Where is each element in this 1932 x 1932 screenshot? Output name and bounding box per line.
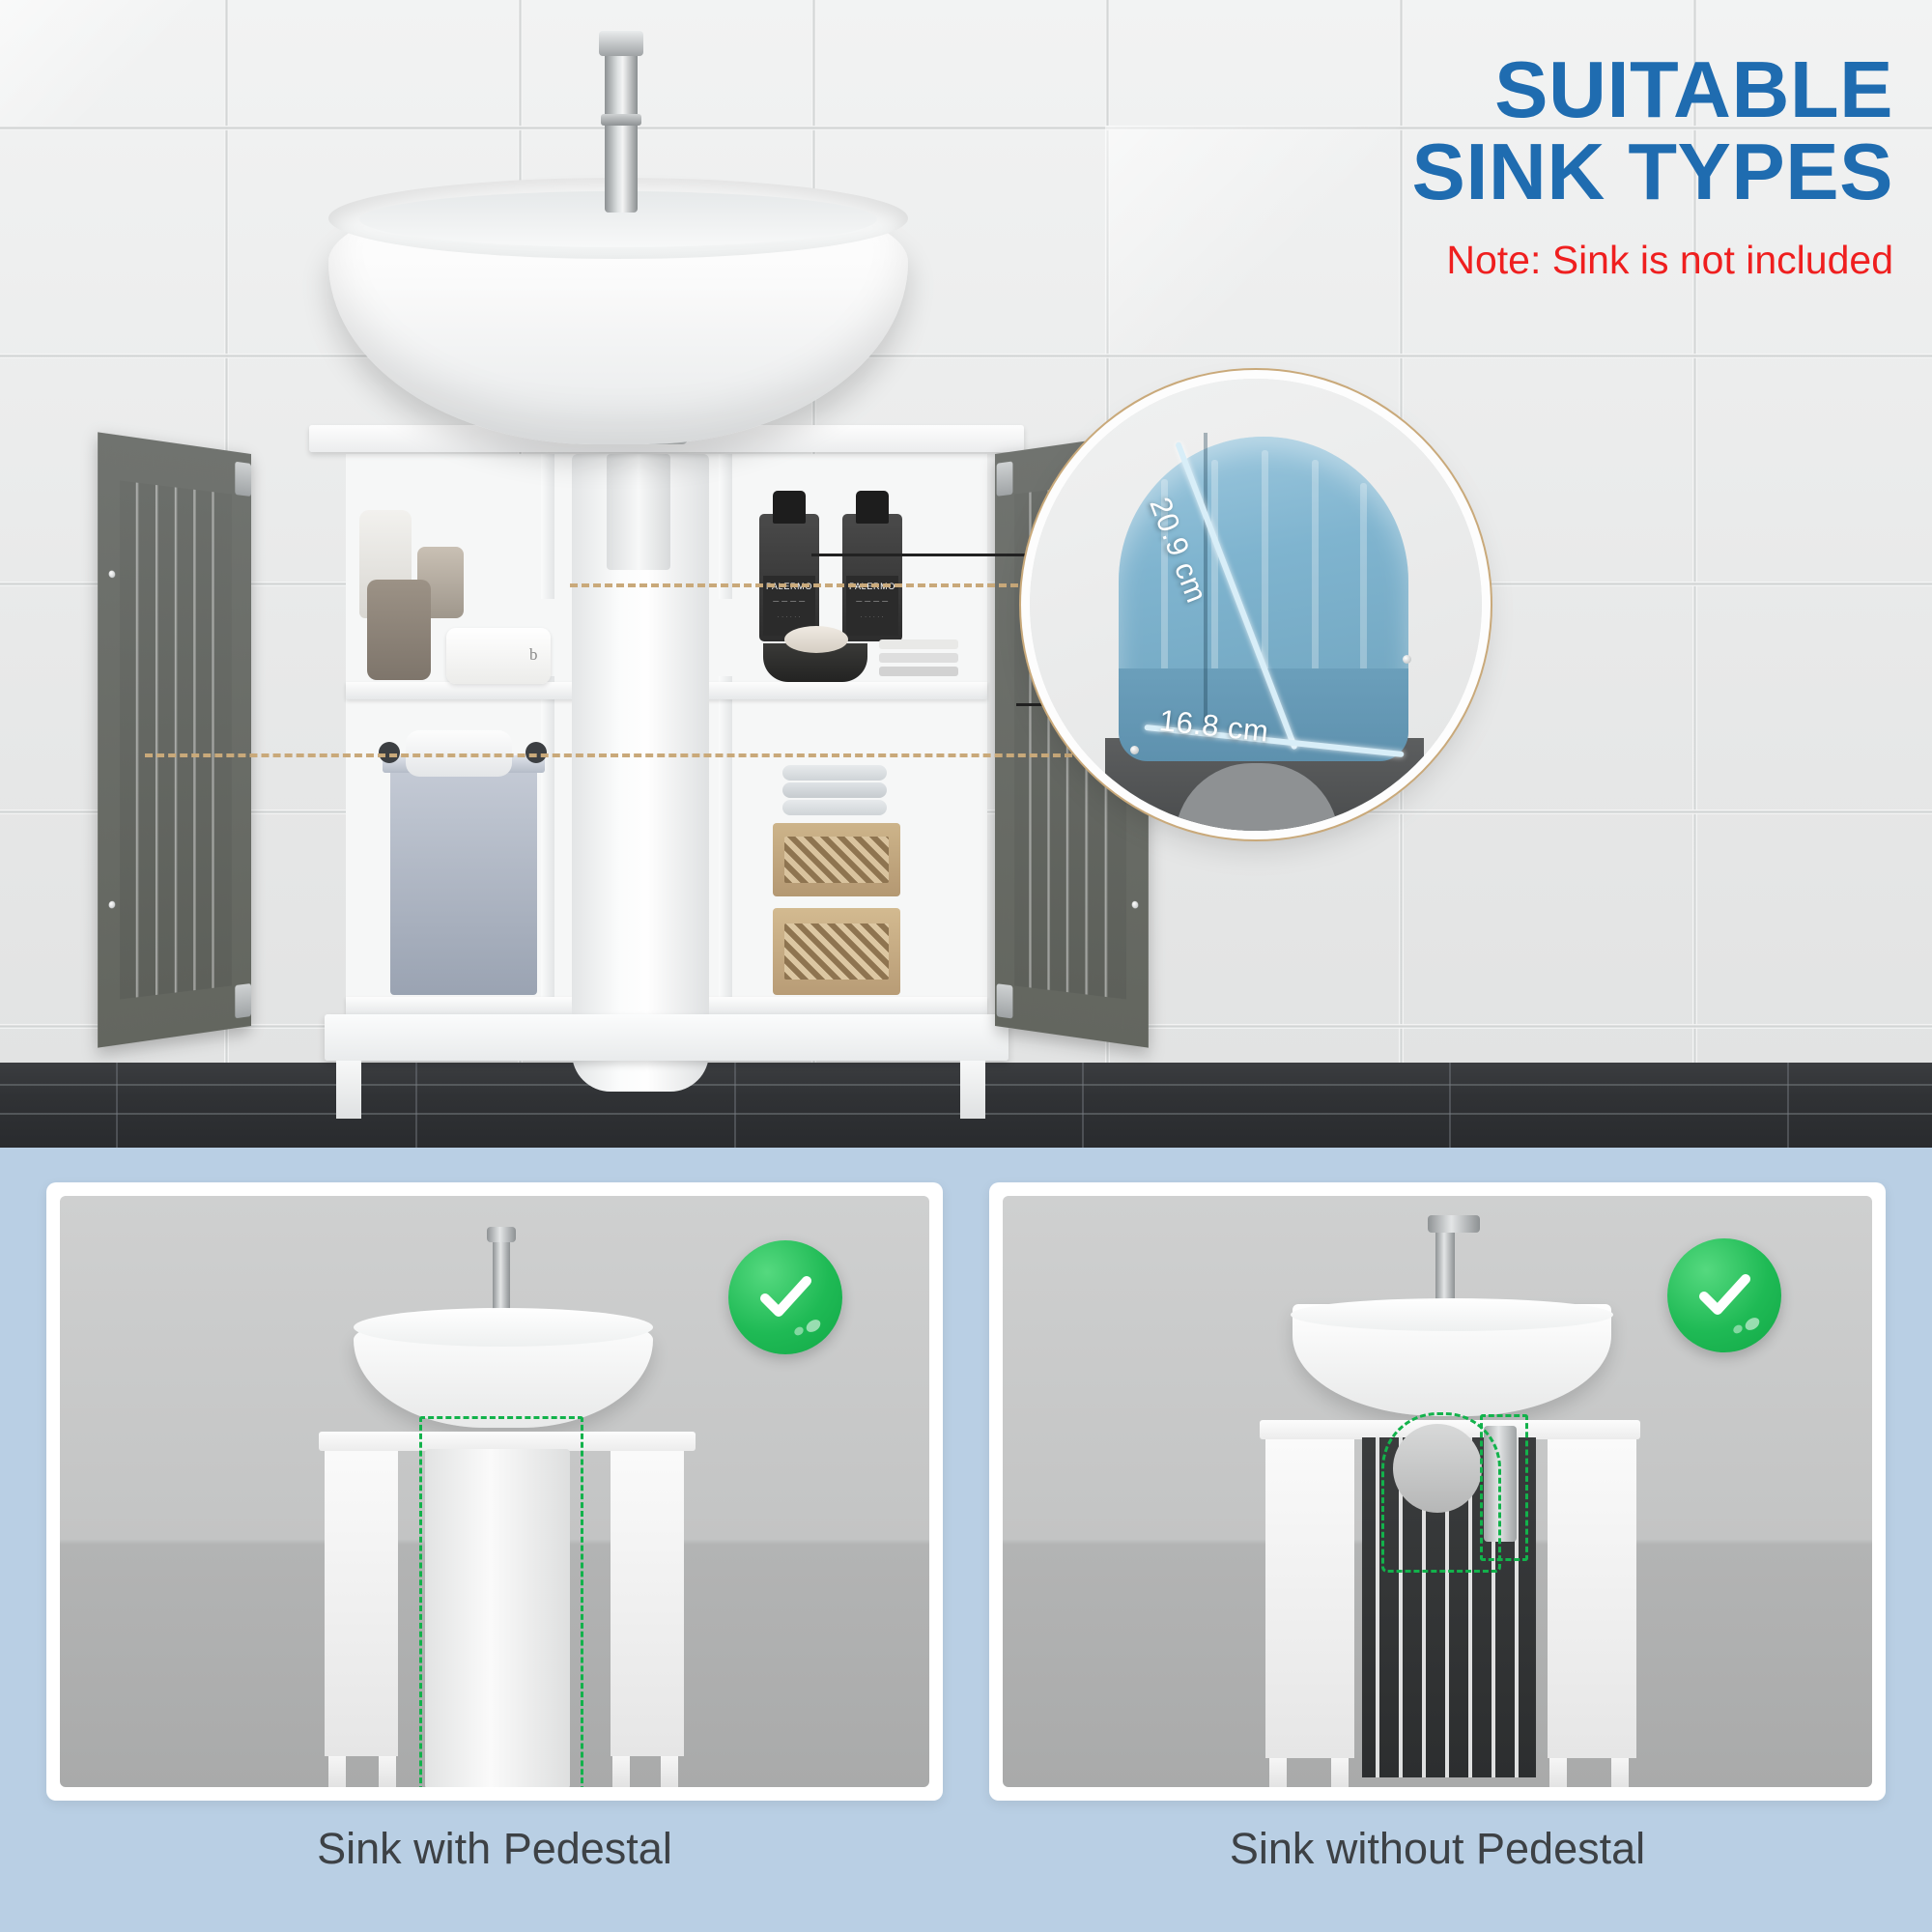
check-icon — [728, 1240, 842, 1354]
wall-grout-line — [0, 354, 1932, 358]
panel-image-with-pedestal — [60, 1196, 929, 1787]
cabinet-vertical-divider — [719, 676, 732, 1012]
cabinet-vertical-divider — [719, 454, 732, 599]
mini-cabinet-leg — [1611, 1758, 1629, 1787]
disclaimer-note: Note: Sink is not included — [1043, 237, 1893, 284]
mini-cabinet-side-right — [611, 1451, 684, 1756]
mini-cabinet-leg — [661, 1756, 678, 1787]
cabinet-leg — [336, 1061, 361, 1119]
prop-jar-logo: b — [529, 645, 538, 665]
prop-folded-towel — [782, 800, 887, 815]
panel-image-without-pedestal — [1003, 1196, 1872, 1787]
mini-faucet-spout — [1428, 1215, 1480, 1233]
prop-folded-towel — [782, 782, 887, 798]
door-hinge — [997, 983, 1013, 1018]
cabinet-vertical-divider — [541, 454, 554, 599]
headline-line-2: SINK TYPES — [1043, 130, 1893, 213]
mini-cabinet-side-right — [1548, 1439, 1636, 1758]
prop-hamper-handle — [379, 742, 400, 763]
door-hinge — [235, 462, 251, 497]
prop-basket-weave — [784, 837, 889, 883]
leader-dashed-base — [145, 753, 1072, 757]
mini-faucet — [493, 1235, 510, 1320]
prop-plate-stack — [879, 667, 958, 676]
infographic-stage: b PALERMO — — — — · · · · · · PALERMO — … — [0, 0, 1932, 1932]
prop-bottle-brown — [367, 580, 431, 680]
prop-pump-head — [856, 491, 889, 524]
mini-cabinet-leg — [328, 1756, 346, 1787]
cabinet-door-left[interactable] — [98, 432, 251, 1047]
headline-block: SUITABLE SINK TYPES Note: Sink is not in… — [1043, 48, 1893, 284]
mini-cabinet-leg — [612, 1756, 630, 1787]
cabinet-leg — [960, 1061, 985, 1119]
mini-faucet-cap — [487, 1227, 516, 1242]
mini-cabinet-leg — [1549, 1758, 1567, 1787]
faucet — [605, 39, 638, 213]
door-panel-inset — [120, 480, 232, 999]
caption-without-pedestal: Sink without Pedestal — [989, 1824, 1886, 1874]
caption-with-pedestal: Sink with Pedestal — [46, 1824, 943, 1874]
mini-cabinet-leg — [379, 1756, 396, 1787]
prop-pump-head — [773, 491, 806, 524]
headline-line-1: SUITABLE — [1043, 48, 1893, 130]
prop-plate-stack — [879, 653, 958, 663]
drain-pipe — [607, 454, 670, 570]
pedestal-fit-highlight — [419, 1416, 583, 1787]
prop-laundry-hamper — [390, 763, 537, 995]
magnifier-callout: 20.9 cm 16.8 cm — [1030, 379, 1482, 831]
mini-sink-rim — [1291, 1298, 1613, 1331]
prop-plate-stack — [879, 639, 958, 649]
prop-basket-weave — [784, 923, 889, 980]
prop-stones — [784, 626, 848, 653]
comparison-band: Sink with Pedestal Sink without Pedestal — [0, 1148, 1932, 1932]
faucet-cap — [599, 31, 643, 56]
mini-cabinet-side-left — [1265, 1439, 1354, 1758]
hero-product-photo: b PALERMO — — — — · · · · · · PALERMO — … — [0, 0, 1932, 1148]
panel-sink-without-pedestal — [989, 1182, 1886, 1801]
mini-cabinet-leg — [1269, 1758, 1287, 1787]
cabinet-vertical-divider — [541, 676, 554, 1012]
mini-cabinet-side-left — [325, 1451, 398, 1756]
door-hinge — [997, 461, 1013, 496]
pipe-clearance-highlight — [1480, 1414, 1528, 1561]
check-icon — [1667, 1238, 1781, 1352]
mini-cabinet-leg — [1331, 1758, 1349, 1787]
faucet-handle — [601, 114, 641, 126]
leader-dashed-shelf — [570, 583, 1053, 587]
prop-folded-towel — [782, 765, 887, 781]
door-hinge — [235, 983, 251, 1018]
panel-sink-with-pedestal — [46, 1182, 943, 1801]
mini-sink-rim — [354, 1308, 653, 1347]
prop-hamper-handle — [526, 742, 547, 763]
cabinet-base-panel — [325, 1014, 1009, 1061]
